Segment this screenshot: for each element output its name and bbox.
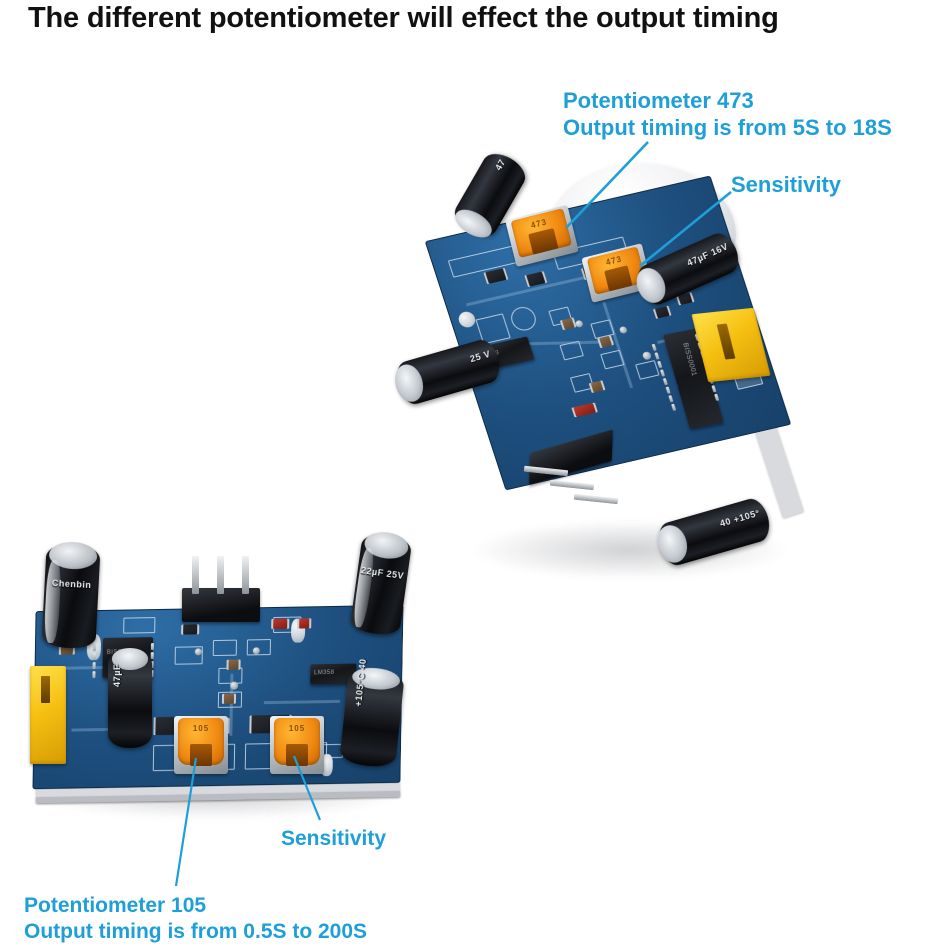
capacitor-47uf-mid: 47µF [108,650,152,748]
capacitor-label: 47µF [112,664,122,687]
smd-component [589,380,606,393]
trimpot-adjust-slot[interactable] [286,744,308,766]
smd-component [222,694,236,704]
capacitor-chenbin-left: Chenbin [41,543,100,650]
capacitor-105c-40: +105°C 40 [339,667,405,768]
pir-module-bottom: BISS0001 LM358 Chenbin 22µF [14,530,434,820]
jumper-slit [41,676,50,703]
silkscreen-box [213,640,237,656]
led-indicator [297,618,311,628]
chip-marking: LM358 [314,670,334,676]
annotation-sensitivity-top: Sensitivity [731,172,841,199]
annotation-line-1: Potentiometer 473 [563,88,892,115]
trimpot-code: 105 [270,724,324,733]
smd-component [483,268,508,284]
trimpot-adjust-slot[interactable] [190,744,212,766]
smd-component [653,306,672,319]
capacitor-chenbin-40-105c: 40 +105° [654,495,774,568]
annotation-line-1: Potentiometer 105 [24,893,367,919]
annotation-potentiometer-473: Potentiometer 473 Output timing is from … [563,88,892,142]
silkscreen-box [508,305,539,333]
pcb-trace [264,700,340,704]
header-pin[interactable] [550,480,594,491]
mounting-hole [457,310,478,329]
smd-component [226,660,240,670]
pir-module-top: 1J3 BISS0001 473 473 [400,150,820,590]
annotation-potentiometer-105: Potentiometer 105 Output timing is from … [24,893,367,944]
annotation-line-2: Output timing is from 5S to 18S [563,115,892,142]
header-pin[interactable] [217,556,224,594]
pcb-via [619,326,628,334]
jumper-cap-bottom-module[interactable] [30,666,66,764]
trimpot-output-timing-105[interactable]: 105 [174,716,228,774]
header-pin[interactable] [574,494,618,505]
header-pin[interactable] [242,556,249,594]
trimpot-sensitivity-105[interactable]: 105 [270,716,324,774]
smd-component [560,317,577,330]
image-canvas: The different potentiometer will effect … [0,0,950,950]
silkscreen-box [635,360,660,380]
led-indicator [571,402,598,417]
annotation-line-2: Output timing is from 0.5S to 200S [24,919,367,945]
trimpot-code: 105 [174,724,228,733]
pcb-via [642,351,652,360]
smd-component [597,335,614,348]
led-indicator [271,619,289,629]
annotation-sensitivity-bottom: Sensitivity [281,826,386,852]
silkscreen-box [123,617,155,634]
pcb-via [230,682,238,690]
header-pin[interactable] [192,556,199,594]
page-title: The different potentiometer will effect … [28,2,779,35]
smd-component [181,624,199,634]
